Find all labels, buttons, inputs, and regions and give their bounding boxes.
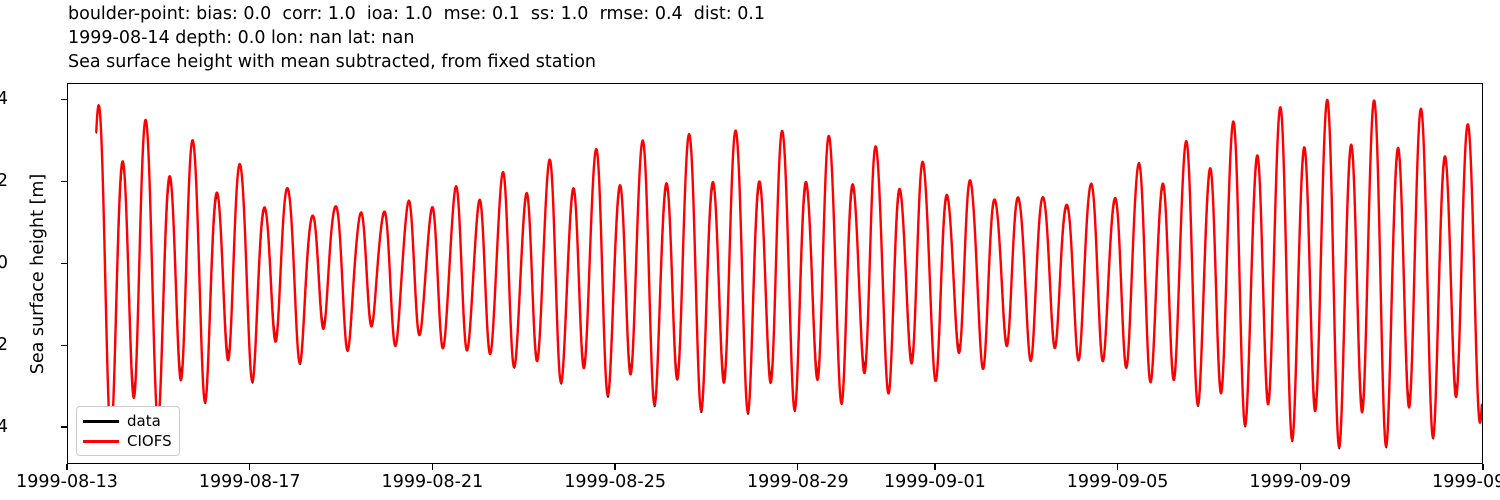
legend-label-ciofs: CIOFS <box>127 432 172 450</box>
plot-axes-frame: data CIOFS <box>67 83 1483 464</box>
figure-canvas: boulder-point: bias: 0.0 corr: 1.0 ioa: … <box>0 0 1500 500</box>
y-axis-label: Sea surface height [m] <box>28 114 48 434</box>
series-line-ciofs <box>96 100 1481 447</box>
plot-area <box>68 84 1482 463</box>
y-tick-label: −4 <box>0 417 8 437</box>
x-tick-mark <box>432 464 433 470</box>
y-tick-label: 2 <box>0 171 8 191</box>
x-tick-mark <box>1300 464 1301 470</box>
y-axis-label-container: Sea surface height [m] <box>8 83 32 464</box>
x-tick-label: 1999-09-05 <box>1067 472 1169 492</box>
title-line-meta: 1999-08-14 depth: 0.0 lon: nan lat: nan <box>68 26 1488 50</box>
x-tick-label: 1999-09-01 <box>884 472 986 492</box>
legend-entry-data: data <box>83 411 172 431</box>
x-tick-label: 1999-09-09 <box>1249 472 1351 492</box>
x-tick-mark <box>797 464 798 470</box>
x-tick-mark <box>66 464 67 470</box>
x-tick-label: 1999-08-17 <box>199 472 301 492</box>
x-tick-mark <box>614 464 615 470</box>
legend-swatch-data-icon <box>83 420 119 423</box>
x-tick-mark <box>249 464 250 470</box>
x-tick-label: 1999-08-13 <box>16 472 118 492</box>
y-tick-label: −2 <box>0 335 8 355</box>
title-block: boulder-point: bias: 0.0 corr: 1.0 ioa: … <box>68 2 1488 74</box>
legend-entry-ciofs: CIOFS <box>83 431 172 451</box>
y-tick-label: 4 <box>0 89 8 109</box>
y-tick-label: 0 <box>0 253 8 273</box>
x-tick-label: 1999-08-25 <box>564 472 666 492</box>
legend: data CIOFS <box>76 406 180 456</box>
x-tick-mark <box>934 464 935 470</box>
x-tick-mark <box>1117 464 1118 470</box>
title-line-description: Sea surface height with mean subtracted,… <box>68 50 1488 74</box>
title-line-metrics: boulder-point: bias: 0.0 corr: 1.0 ioa: … <box>68 2 1488 26</box>
legend-swatch-ciofs-icon <box>83 440 119 443</box>
x-tick-label: 1999-08-29 <box>747 472 849 492</box>
x-tick-mark <box>1482 464 1483 470</box>
legend-label-data: data <box>127 412 161 430</box>
x-tick-label: 1999-09-13 <box>1432 472 1500 492</box>
x-tick-label: 1999-08-21 <box>382 472 484 492</box>
